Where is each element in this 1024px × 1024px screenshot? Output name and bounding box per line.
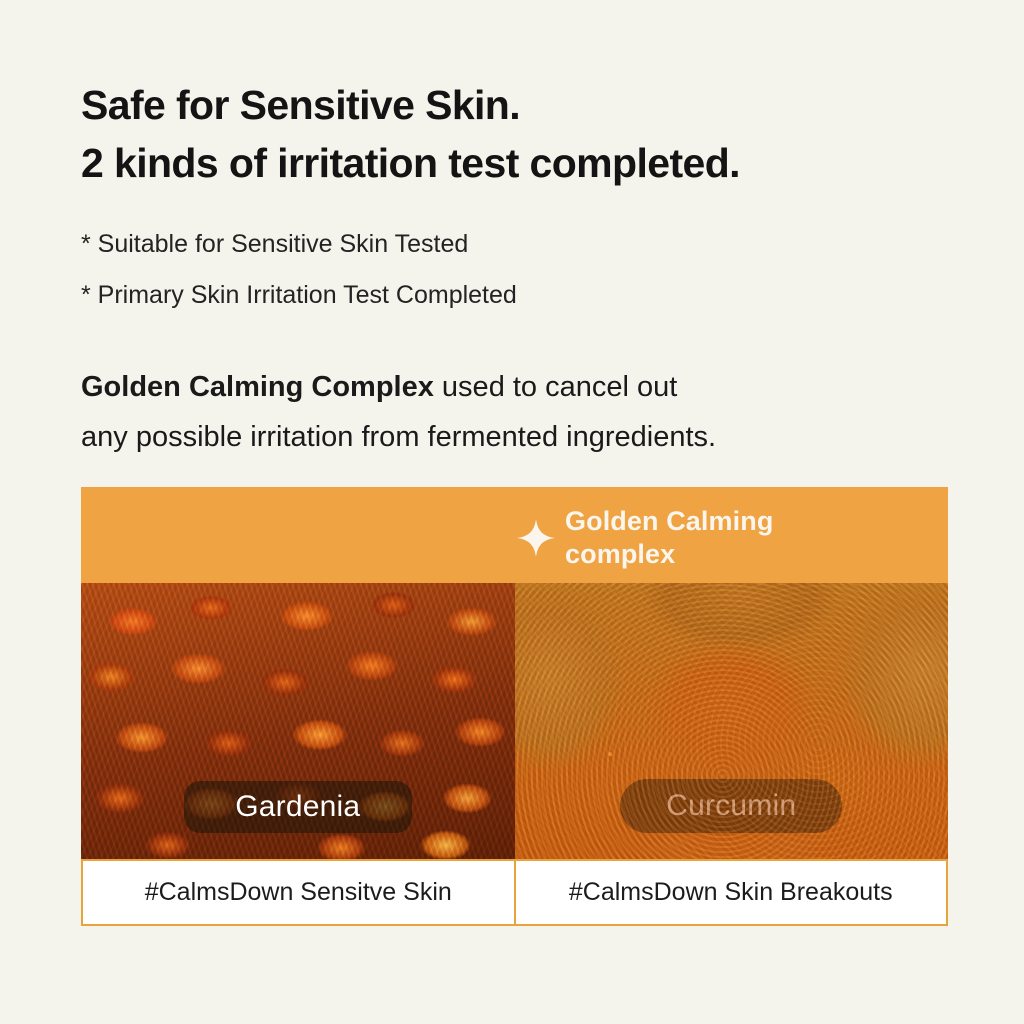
- headline-line-1: Safe for Sensitive Skin.: [81, 76, 981, 134]
- lead-line-2: any possible irritation from fermented i…: [81, 412, 981, 462]
- banner-title: Golden Calming complex: [565, 505, 773, 571]
- ingredient-photos: Gardenia Curcumin: [81, 583, 948, 859]
- curcumin-label-pill: Curcumin: [620, 779, 842, 833]
- sparkle-icon: [517, 519, 555, 557]
- claim-item-2: * Primary Skin Irritation Test Completed: [81, 270, 941, 321]
- promo-page: Safe for Sensitive Skin. 2 kinds of irri…: [0, 0, 1024, 1024]
- claims-list: * Suitable for Sensitive Skin Tested * P…: [81, 219, 941, 321]
- claim-item-1: * Suitable for Sensitive Skin Tested: [81, 219, 941, 270]
- lead-line-1: Golden Calming Complex used to cancel ou…: [81, 362, 981, 412]
- lead-paragraph: Golden Calming Complex used to cancel ou…: [81, 362, 981, 462]
- gardenia-label-pill: Gardenia: [184, 781, 412, 833]
- caption-gardenia: #CalmsDown Sensitve Skin: [83, 861, 514, 924]
- page-title: Safe for Sensitive Skin. 2 kinds of irri…: [81, 76, 981, 192]
- banner-title-line-2: complex: [565, 538, 773, 571]
- caption-row: #CalmsDown Sensitve Skin #CalmsDown Skin…: [81, 859, 948, 926]
- curcumin-photo: Curcumin: [515, 583, 949, 859]
- banner-content: Golden Calming complex: [517, 505, 773, 571]
- banner-title-line-1: Golden Calming: [565, 505, 773, 538]
- card-banner: Golden Calming complex: [81, 487, 948, 583]
- lead-line-1-rest: used to cancel out: [434, 371, 677, 403]
- curcumin-label: Curcumin: [666, 789, 796, 823]
- caption-curcumin: #CalmsDown Skin Breakouts: [514, 861, 947, 924]
- headline-line-2: 2 kinds of irritation test completed.: [81, 134, 981, 192]
- lead-bold-phrase: Golden Calming Complex: [81, 371, 434, 403]
- ingredient-card: Golden Calming complex Gardenia Curcumin…: [81, 487, 948, 926]
- gardenia-label: Gardenia: [235, 790, 360, 824]
- gardenia-photo: Gardenia: [81, 583, 515, 859]
